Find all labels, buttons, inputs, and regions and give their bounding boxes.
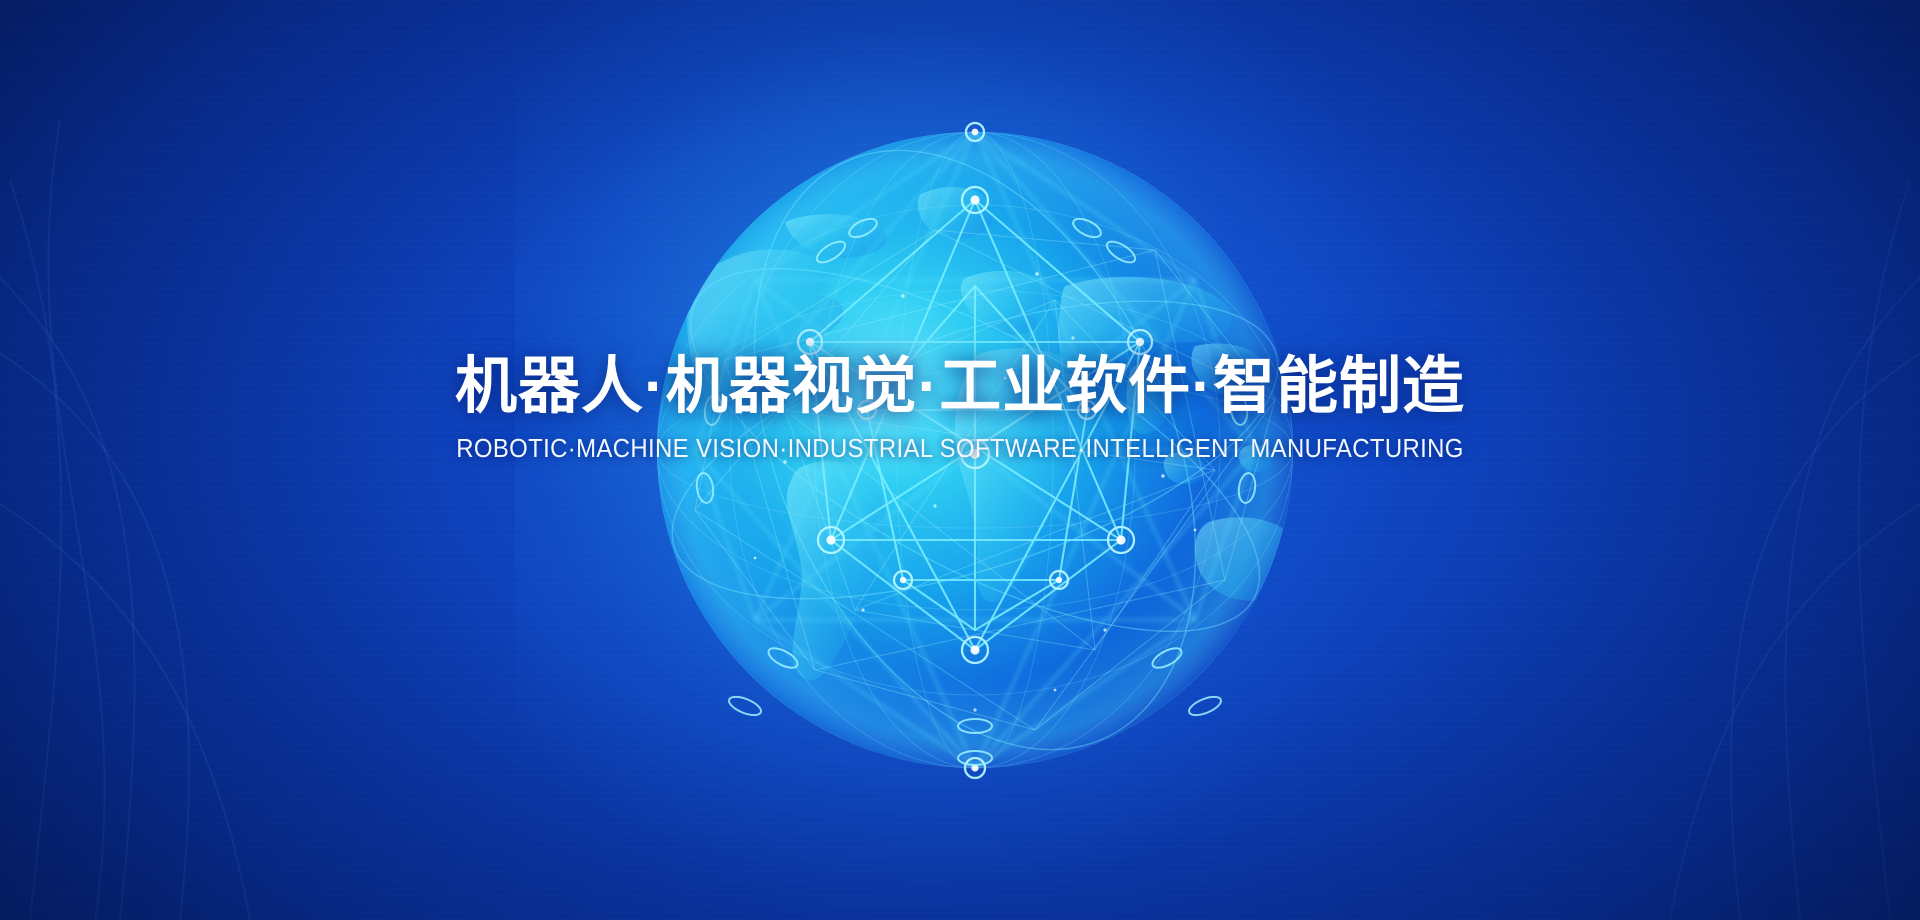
page-title: 机器人·机器视觉·工业软件·智能制造	[0, 352, 1920, 422]
page-subtitle: ROBOTIC·MACHINE VISION·INDUSTRIAL SOFTWA…	[77, 433, 1843, 463]
banner-text-block: 机器人·机器视觉·工业软件·智能制造 ROBOTIC·MACHINE VISIO…	[0, 352, 1920, 463]
hero-banner: 机器人·机器视觉·工业软件·智能制造 ROBOTIC·MACHINE VISIO…	[0, 0, 1920, 920]
